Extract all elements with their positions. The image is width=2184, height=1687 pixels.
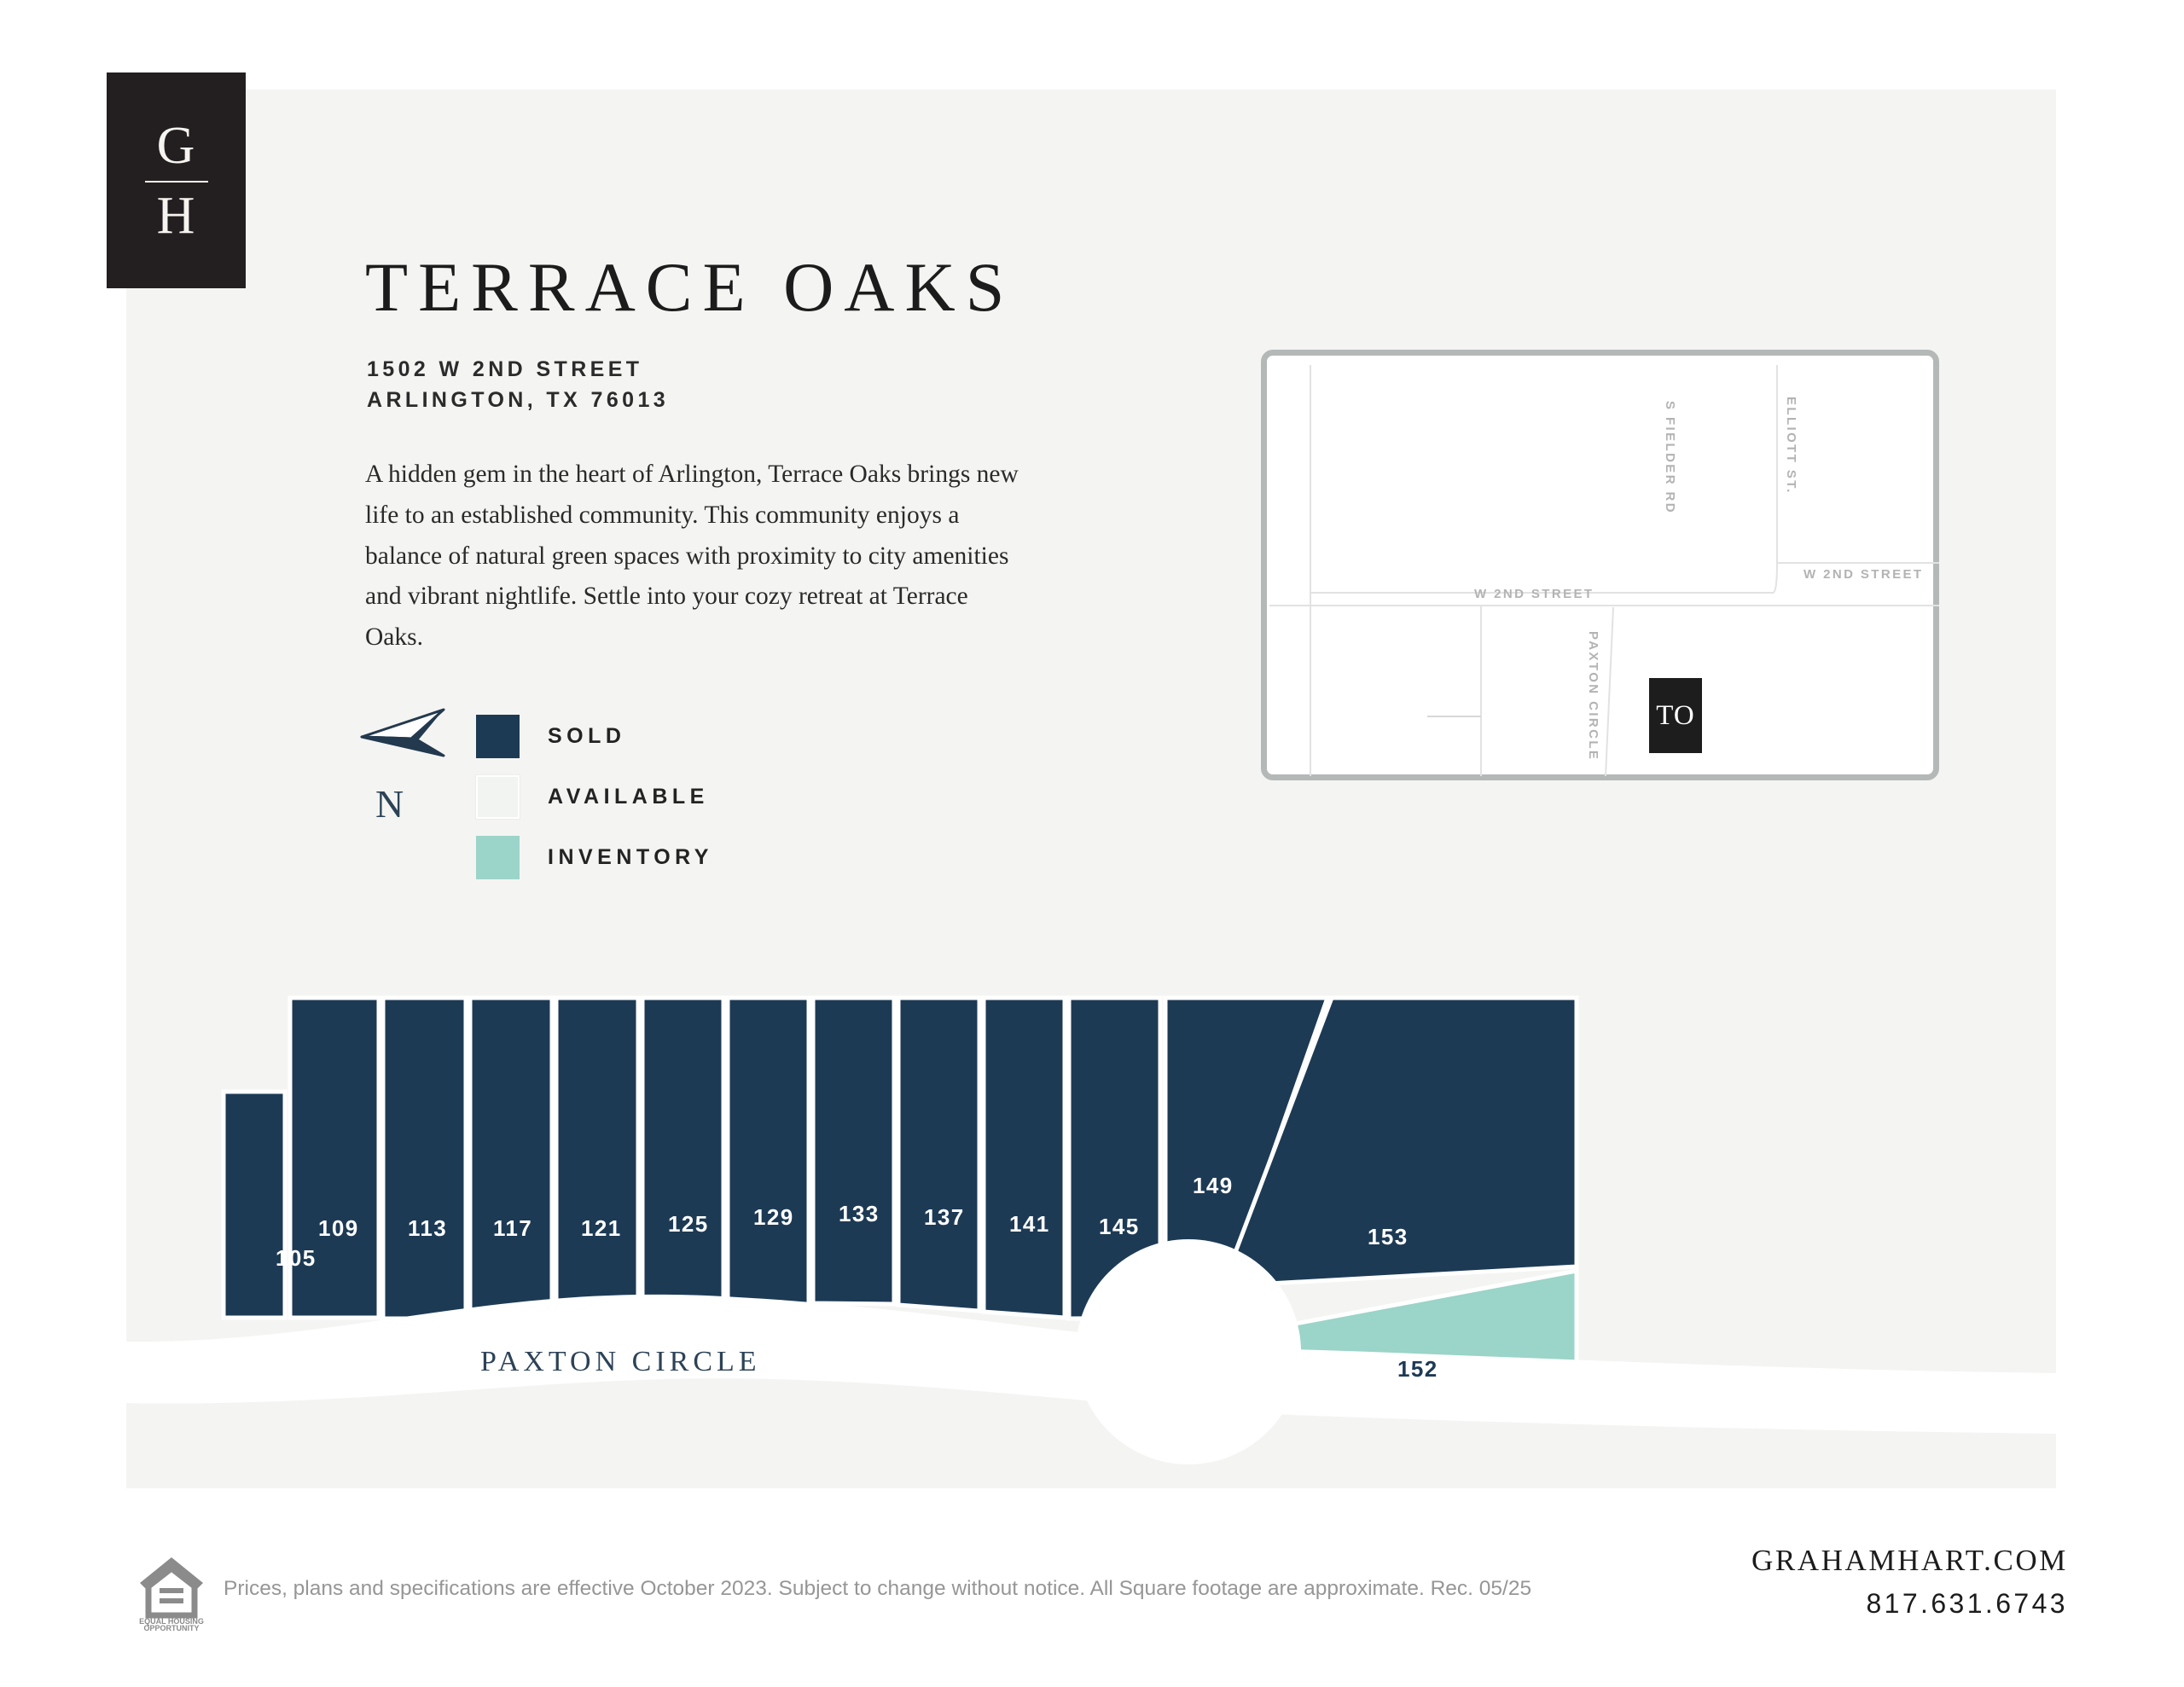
lot-label-133: 133 [839,1201,880,1227]
legend-swatch-sold [476,715,520,758]
lot-label-125: 125 [668,1211,709,1238]
street-label-paxton-circle: PAXTON CIRCLE [480,1346,761,1378]
lot-label-105: 105 [276,1245,317,1272]
lot-label-137: 137 [924,1204,965,1231]
lot-label-109: 109 [318,1215,359,1242]
legend-label-sold: SOLD [548,724,625,749]
lot-label-145: 145 [1099,1214,1140,1240]
cul-de-sac [1076,1239,1301,1464]
lot-label-152: 152 [1397,1356,1438,1383]
site-plan-flyer: G H TERRACE OAKS 1502 W 2ND STREET ARLIN… [0,0,2184,1687]
lot-shape-117 [470,998,552,1319]
legend-item-inventory: INVENTORY [476,827,713,888]
community-address: 1502 W 2ND STREET ARLINGTON, TX 76013 [367,354,669,416]
lot-shape-105 [224,1092,285,1318]
lot-label-141: 141 [1009,1211,1050,1238]
contact-block: GRAHAMHART.COM 817.631.6743 [1751,1544,2068,1620]
website-link[interactable]: GRAHAMHART.COM [1751,1544,2068,1578]
north-arrow-icon: N [358,706,452,826]
legend-swatch-available [476,775,520,819]
lot-label-129: 129 [753,1204,794,1231]
map-street-elliott-st: ELLIOTT ST. [1784,397,1798,495]
map-street-w-2nd-street-left: W 2ND STREET [1474,587,1594,601]
lot-shape-137 [898,998,979,1311]
page-title: TERRACE OAKS [365,247,1014,328]
lot-label-153: 153 [1368,1224,1409,1250]
logo-monogram: G H [145,119,208,242]
lot-label-121: 121 [581,1215,622,1242]
graham-hart-logo: G H [107,72,246,288]
north-label: N [375,781,404,826]
svg-text:OPPORTUNITY: OPPORTUNITY [143,1624,199,1631]
equal-housing-opportunity-icon: EQUAL HOUSING OPPORTUNITY [136,1552,206,1631]
lot-shape-113 [383,998,466,1319]
lot-site-plan: 105 109 113 117 121 125 129 133 137 141 … [126,942,2056,1488]
legend-swatch-inventory [476,836,520,879]
phone-number[interactable]: 817.631.6743 [1751,1588,2068,1620]
logo-divider [145,181,208,183]
legend-label-inventory: INVENTORY [548,845,713,870]
lot-shape-141 [984,998,1065,1318]
lot-shape-121 [556,998,638,1321]
footer-disclaimer: Prices, plans and specifications are eff… [224,1577,1531,1601]
address-line-2: ARLINGTON, TX 76013 [367,385,669,415]
lot-label-149: 149 [1193,1173,1234,1199]
legend-item-available: AVAILABLE [476,767,713,827]
address-line-1: 1502 W 2ND STREET [367,354,669,385]
lot-shape-125 [642,998,723,1318]
legend-item-sold: SOLD [476,706,713,767]
legend-label-available: AVAILABLE [548,785,709,809]
status-legend: SOLD AVAILABLE INVENTORY [476,706,713,888]
locator-map-marker: TO [1649,678,1702,753]
map-street-paxton-circle: PAXTON CIRCLE [1586,631,1600,761]
map-street-s-fielder-rd: S FIELDER RD [1663,401,1677,514]
lot-shape-129 [728,998,809,1310]
logo-letter-h: H [157,189,196,242]
lot-shape-133 [813,998,894,1304]
lot-label-117: 117 [493,1215,532,1242]
lot-label-113: 113 [408,1215,447,1242]
locator-map-marker-label: TO [1656,700,1694,732]
map-street-w-2nd-street-right: W 2ND STREET [1804,567,1923,582]
community-description: A hidden gem in the heart of Arlington, … [365,455,1022,658]
logo-letter-g: G [157,119,196,172]
locator-map: S FIELDER RD ELLIOTT ST. W 2ND STREET W … [1261,350,1939,780]
